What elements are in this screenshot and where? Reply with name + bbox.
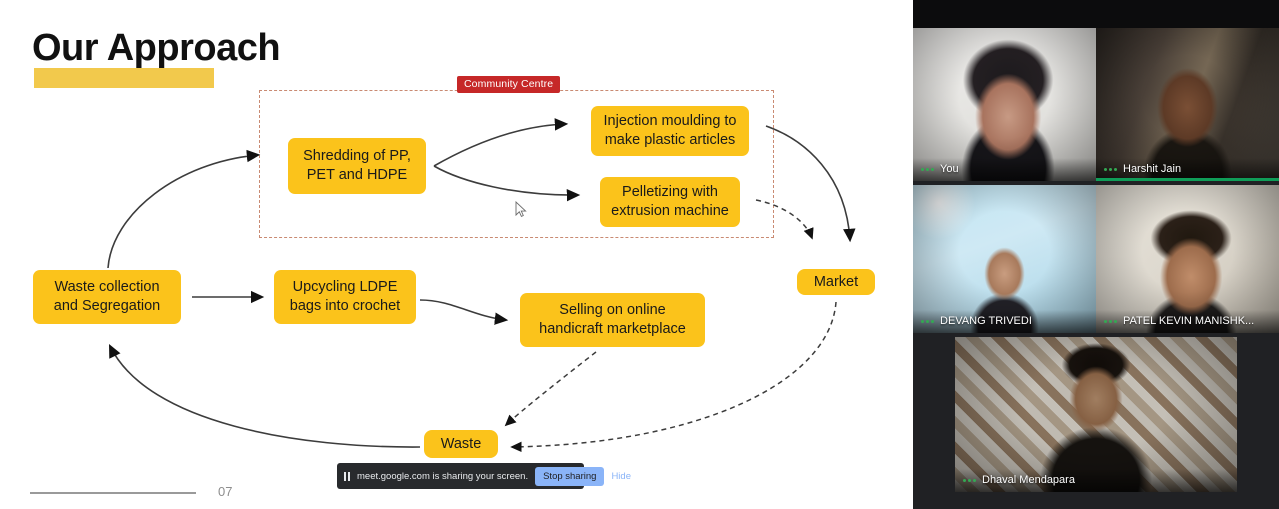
hide-button[interactable]: Hide <box>611 471 633 482</box>
screen-share-view: Our Approach Community Centre <box>0 0 1279 509</box>
mic-activity-icon <box>921 168 934 171</box>
participant-video-panel: You Harshit Jain DEVANG TRIVEDI <box>913 0 1279 509</box>
active-speaker-indicator <box>1096 178 1279 181</box>
mic-activity-icon <box>921 320 934 323</box>
page-title: Our Approach <box>32 28 280 70</box>
participant-tile[interactable]: PATEL KEVIN MANISHK... <box>1096 185 1279 333</box>
mic-activity-icon <box>1104 320 1117 323</box>
participant-namebar: Dhaval Mendapara <box>955 469 1237 492</box>
participant-name: Harshit Jain <box>1123 163 1181 175</box>
mic-activity-icon <box>1104 168 1117 171</box>
mic-activity-icon <box>963 479 976 482</box>
node-waste-collection[interactable]: Waste collection and Segregation <box>33 270 181 324</box>
participant-namebar: PATEL KEVIN MANISHK... <box>1096 310 1279 333</box>
node-injection-moulding[interactable]: Injection moulding to make plastic artic… <box>591 106 749 156</box>
node-market[interactable]: Market <box>797 269 875 295</box>
participant-tile[interactable]: Dhaval Mendapara <box>955 337 1237 492</box>
node-upcycling-ldpe[interactable]: Upcycling LDPE bags into crochet <box>274 270 416 324</box>
participant-name: DEVANG TRIVEDI <box>940 315 1032 327</box>
stop-sharing-button[interactable]: Stop sharing <box>535 467 604 486</box>
participant-name: Dhaval Mendapara <box>982 474 1075 486</box>
node-pelletizing[interactable]: Pelletizing with extrusion machine <box>600 177 740 227</box>
node-shredding[interactable]: Shredding of PP, PET and HDPE <box>288 138 426 194</box>
participant-tile[interactable]: You <box>913 28 1096 181</box>
participant-namebar: You <box>913 158 1096 181</box>
participant-tile[interactable]: DEVANG TRIVEDI <box>913 185 1096 333</box>
participant-namebar: DEVANG TRIVEDI <box>913 310 1096 333</box>
node-selling-online[interactable]: Selling on online handicraft marketplace <box>520 293 705 347</box>
page-number: 07 <box>218 484 232 499</box>
participant-tile[interactable]: Harshit Jain <box>1096 28 1279 181</box>
footer-rule <box>30 492 196 494</box>
screen-share-bar: meet.google.com is sharing your screen. … <box>337 463 584 489</box>
mouse-cursor-icon <box>515 201 527 218</box>
presentation-slide: Our Approach Community Centre <box>0 0 913 509</box>
node-waste[interactable]: Waste <box>424 430 498 458</box>
slide-title-group: Our Approach <box>32 28 280 70</box>
title-highlight-bar <box>34 68 214 88</box>
pause-icon <box>344 472 350 481</box>
participant-name: PATEL KEVIN MANISHK... <box>1123 315 1254 327</box>
participant-name: You <box>940 163 959 175</box>
video-panel-topbar <box>913 0 1279 28</box>
community-centre-label: Community Centre <box>457 76 560 93</box>
share-message: meet.google.com is sharing your screen. <box>357 471 528 482</box>
